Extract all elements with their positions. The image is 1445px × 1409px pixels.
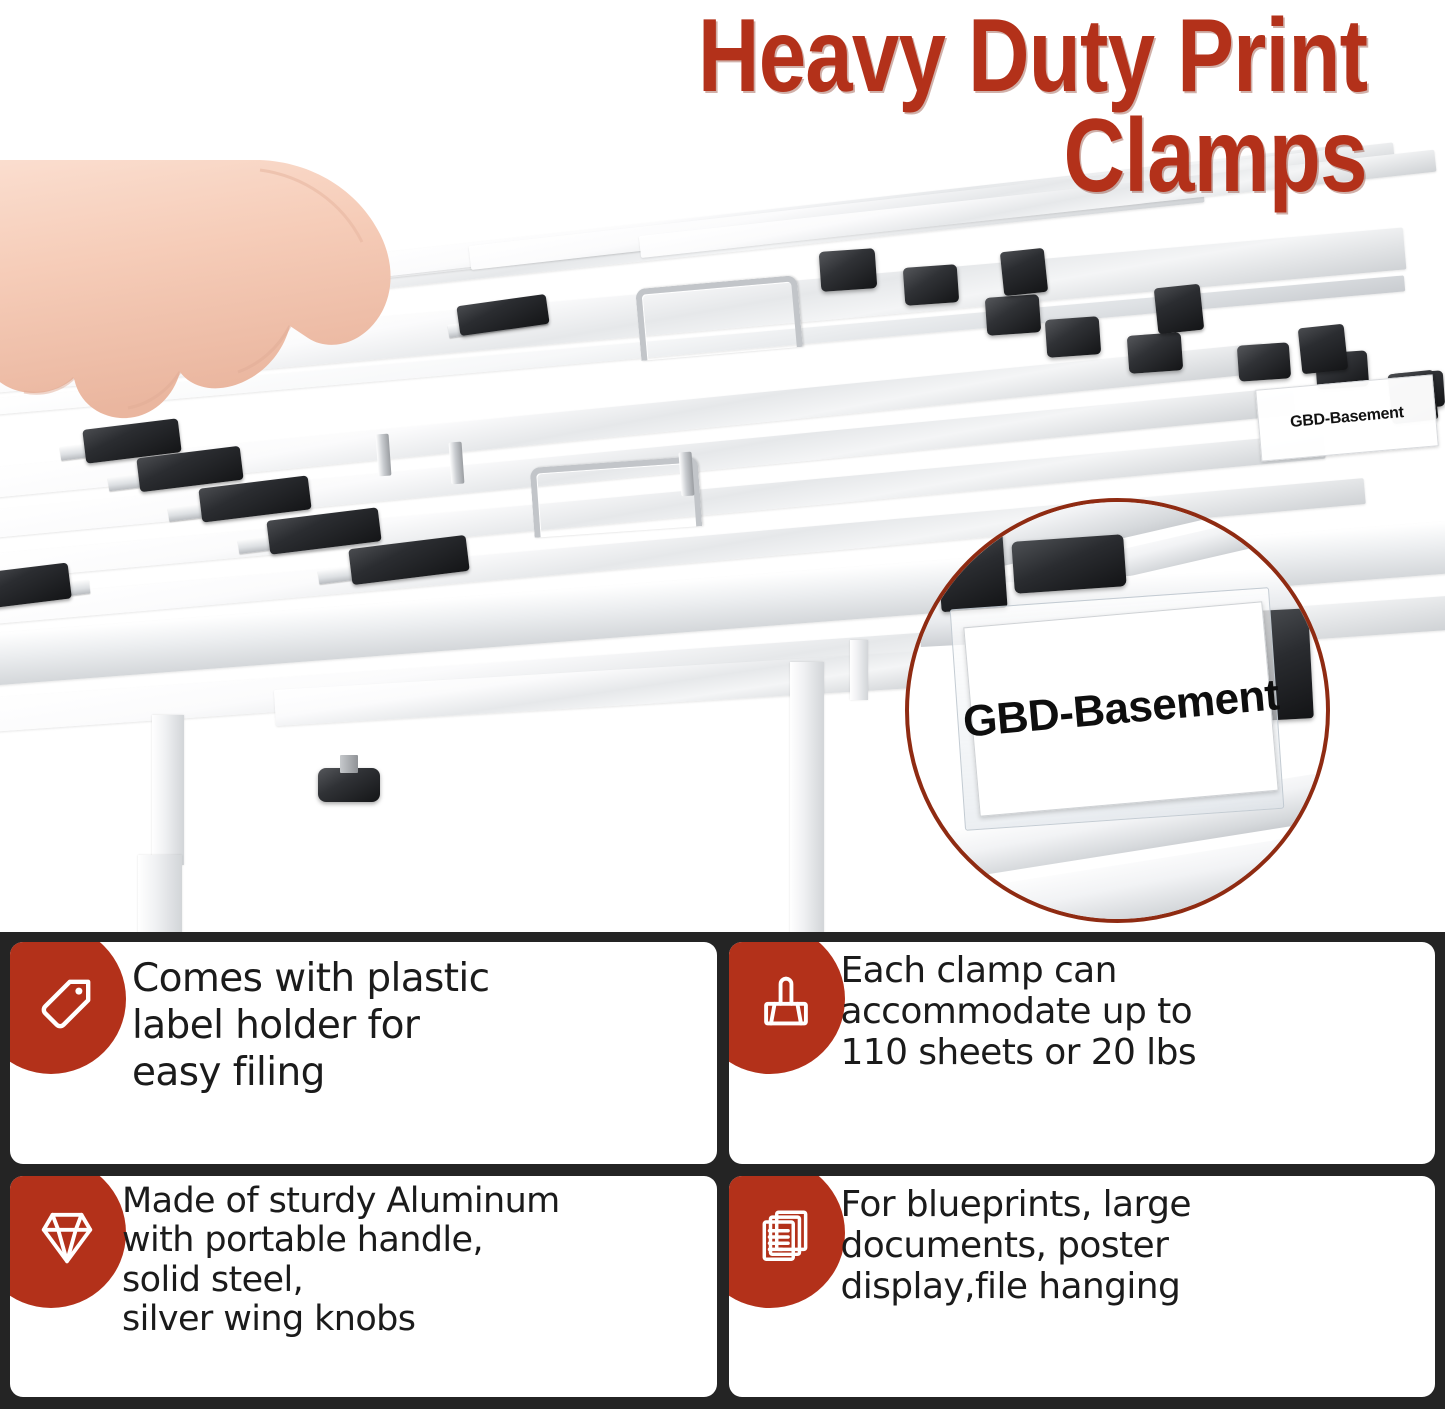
feature-line: documents, poster: [841, 1225, 1191, 1266]
wing-knob: [318, 768, 380, 802]
knob-stem: [340, 755, 358, 773]
product-photo: GBD-Basement GBD-Basement: [0, 0, 1445, 932]
feature-card-materials: Made of sturdy Aluminum with portable ha…: [10, 1176, 717, 1398]
feature-line: accommodate up to: [841, 991, 1196, 1032]
inset-clamp-head: [1011, 534, 1126, 594]
feature-text: Each clamp can accommodate up to 110 she…: [841, 942, 1196, 1073]
carry-handle: [530, 456, 702, 538]
wing-knob: [1237, 342, 1291, 382]
feature-line: silver wing knobs: [122, 1300, 560, 1340]
inset-clamp-head: [936, 532, 1007, 612]
wing-knob: [985, 294, 1042, 336]
wing-knob: [1127, 332, 1184, 374]
documents-icon: [755, 1206, 817, 1268]
feature-line: Made of sturdy Aluminum: [122, 1182, 560, 1222]
feature-line: For blueprints, large: [841, 1184, 1191, 1225]
feature-badge: [10, 942, 126, 1074]
feature-text: For blueprints, large documents, poster …: [841, 1176, 1191, 1307]
inset-label-text: GBD-Basement: [961, 670, 1281, 747]
feature-card-capacity: Each clamp can accommodate up to 110 she…: [729, 942, 1436, 1164]
feature-badge: [10, 1176, 126, 1308]
diamond-icon: [36, 1206, 98, 1268]
feature-line: label holder for: [132, 1003, 490, 1050]
feature-line: with portable handle,: [122, 1221, 560, 1261]
hand-illustration: [0, 150, 480, 570]
feature-badge: [729, 942, 845, 1074]
binder-clip-icon: [755, 972, 817, 1034]
bar-end-cap: [1000, 248, 1048, 296]
zoom-inset-callout: GBD-Basement: [905, 498, 1330, 923]
carry-handle: [635, 275, 803, 361]
feature-card-label-holder: Comes with plastic label holder for easy…: [10, 942, 717, 1164]
tag-icon: [36, 972, 98, 1034]
feature-line: Each clamp can: [841, 950, 1196, 991]
feature-panel: Comes with plastic label holder for easy…: [0, 932, 1445, 1409]
feature-text: Comes with plastic label holder for easy…: [132, 942, 490, 1096]
stand-leg: [138, 855, 182, 932]
wing-knob: [903, 264, 960, 306]
bar-end-cap: [1298, 324, 1349, 375]
stand-leg: [790, 662, 824, 932]
wing-knob: [819, 248, 878, 292]
wing-knob: [1045, 316, 1102, 358]
feature-text: Made of sturdy Aluminum with portable ha…: [122, 1176, 560, 1340]
feature-badge: [729, 1176, 845, 1308]
stand-leg: [152, 715, 184, 865]
label-holder-text: GBD-Basement: [1290, 404, 1405, 432]
inset-label-card: GBD-Basement: [963, 601, 1278, 816]
bar-end-cap: [1154, 284, 1205, 335]
feature-line: 110 sheets or 20 lbs: [841, 1032, 1196, 1073]
feature-card-usecases: For blueprints, large documents, poster …: [729, 1176, 1436, 1398]
stand-leg: [850, 640, 868, 700]
feature-line: solid steel,: [122, 1261, 560, 1301]
label-holder: GBD-Basement: [1255, 374, 1439, 461]
feature-line: Comes with plastic: [132, 956, 490, 1003]
feature-line: display,file hanging: [841, 1266, 1191, 1307]
feature-line: easy filing: [132, 1050, 490, 1097]
product-infographic: GBD-Basement GBD-Basement: [0, 0, 1445, 1409]
